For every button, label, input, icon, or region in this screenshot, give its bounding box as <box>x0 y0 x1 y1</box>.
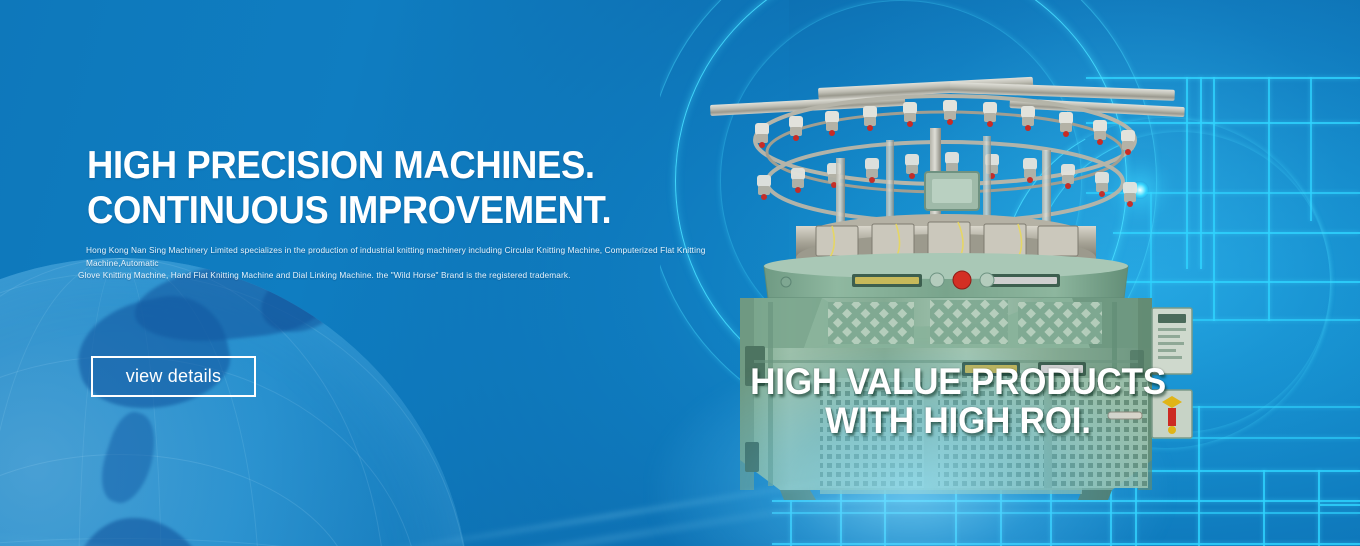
globe-longitude-line <box>78 258 162 546</box>
sub-headline-line-2: WITH HIGH ROI. <box>747 401 1169 440</box>
description-line-2: Glove Knitting Machine, Hand Flat Knitti… <box>78 269 718 282</box>
globe-latitude-line <box>0 454 358 546</box>
globe-landmass <box>93 407 165 509</box>
headline-line-2: CONTINUOUS IMPROVEMENT. <box>87 188 611 233</box>
company-description: Hong Kong Nan Sing Machinery Limited spe… <box>78 244 718 282</box>
globe-landmass <box>58 510 233 546</box>
globe-longitude-line <box>0 258 260 546</box>
hero-banner: HIGH PRECISION MACHINES. CONTINUOUS IMPR… <box>0 0 1360 546</box>
sub-headline-line-1: HIGH VALUE PRODUCTS <box>747 362 1169 401</box>
page-title: HIGH PRECISION MACHINES. CONTINUOUS IMPR… <box>87 143 611 233</box>
sub-headline: HIGH VALUE PRODUCTS WITH HIGH ROI. <box>747 362 1169 440</box>
headline-line-1: HIGH PRECISION MACHINES. <box>87 143 611 188</box>
globe-landmass <box>68 286 237 423</box>
description-line-1: Hong Kong Nan Sing Machinery Limited spe… <box>78 244 718 269</box>
view-details-button[interactable]: view details <box>91 356 256 397</box>
